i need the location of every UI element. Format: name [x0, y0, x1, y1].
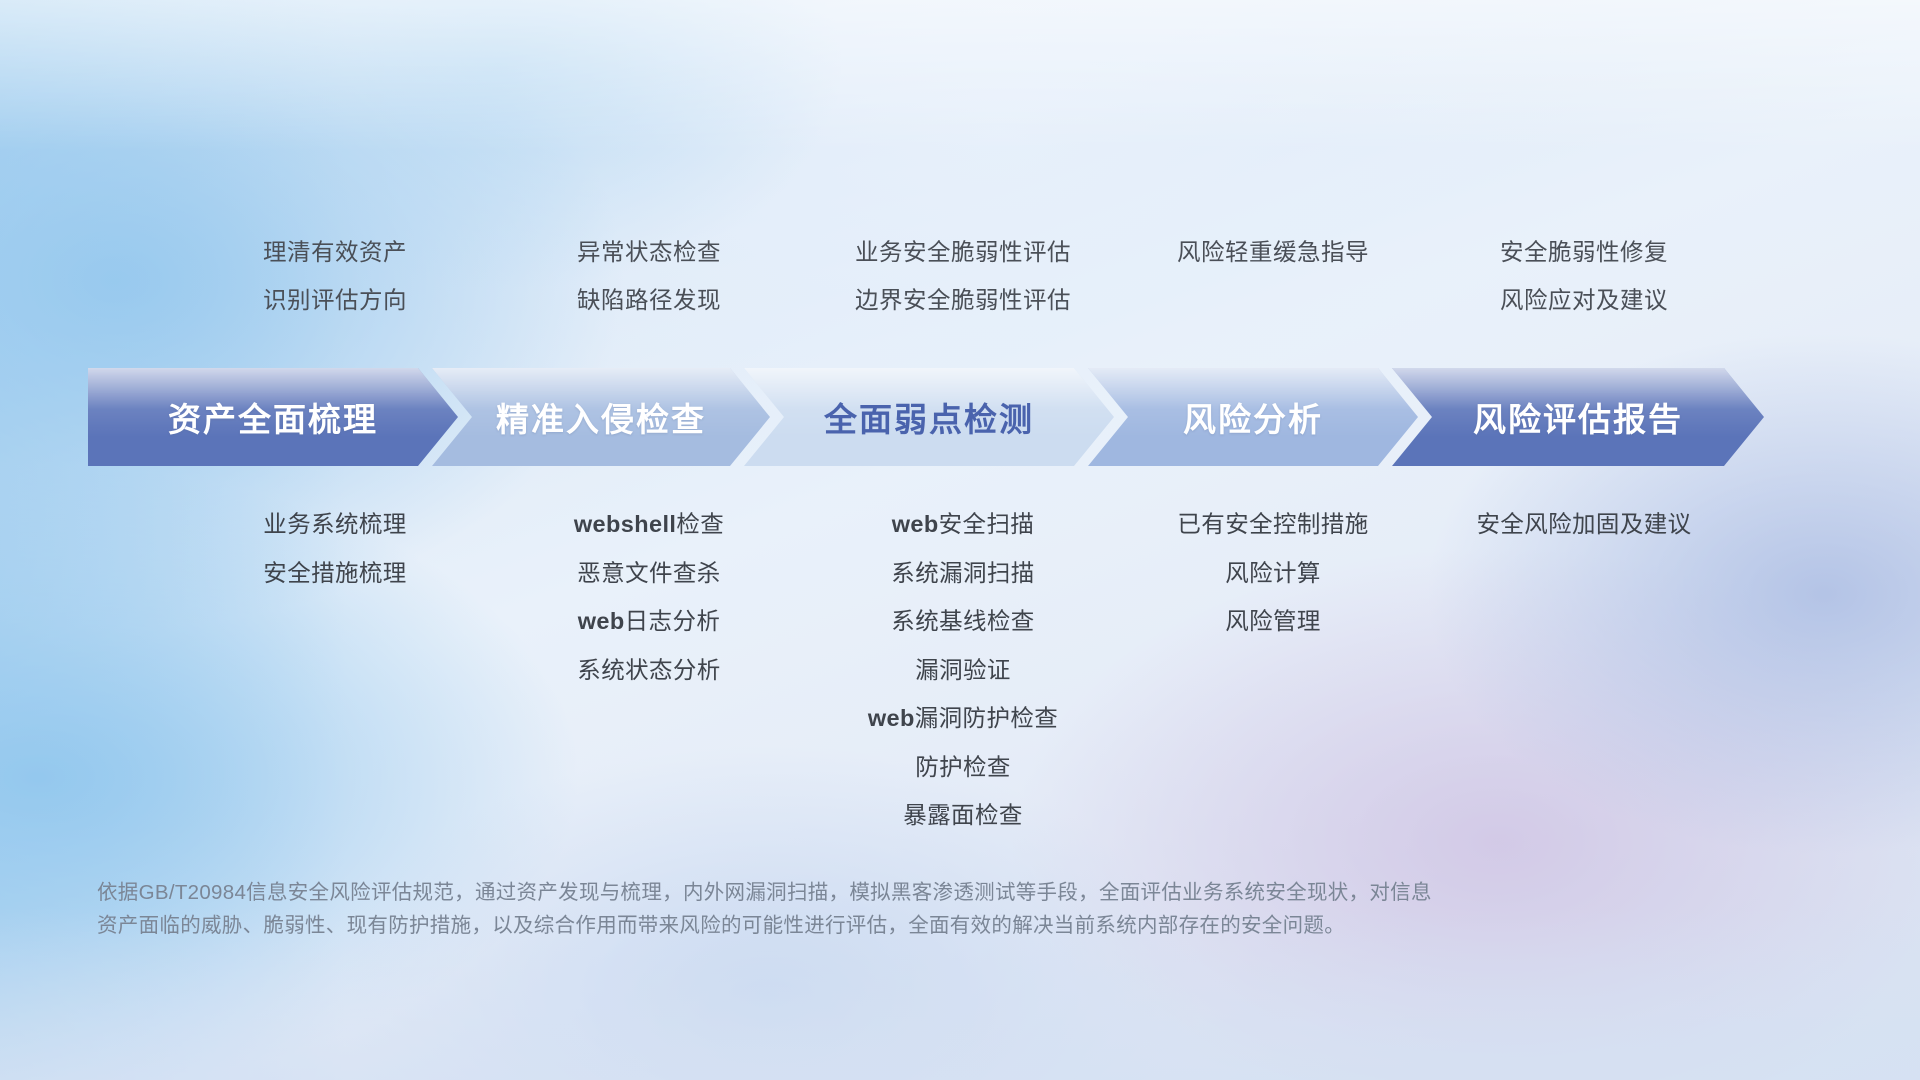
top-caption-column-risk-analysis: 风险轻重缓急指导	[1128, 228, 1418, 338]
detail-list-item: 系统漏洞扫描	[891, 549, 1034, 598]
top-caption-text: 风险轻重缓急指导	[1177, 228, 1369, 276]
top-caption-text: 业务安全脆弱性评估	[855, 228, 1071, 276]
top-caption-text: 缺陷路径发现	[577, 276, 721, 324]
detail-list-item: 风险计算	[1225, 549, 1321, 598]
detail-column-weakness-detection: web安全扫描系统漏洞扫描系统基线检查漏洞验证web漏洞防护检查防护检查暴露面检…	[798, 500, 1128, 840]
process-step-label: 资产全面梳理	[168, 393, 378, 441]
top-caption-text: 异常状态检查	[577, 228, 721, 276]
top-caption-text: 理清有效资产	[263, 228, 407, 276]
detail-list-item: 风险管理	[1225, 597, 1321, 646]
footer-line: 资产面临的威胁、脆弱性、现有防护措施，以及综合作用而带来风险的可能性进行评估，全…	[97, 909, 1717, 942]
top-caption-column-asset-inventory: 理清有效资产识别评估方向	[170, 228, 500, 338]
detail-list-item: 系统状态分析	[577, 646, 720, 695]
process-step-intrusion-check[interactable]: 精准入侵检查	[432, 368, 770, 466]
process-step-risk-analysis[interactable]: 风险分析	[1088, 368, 1418, 466]
process-step-label: 全面弱点检测	[824, 393, 1034, 441]
top-caption-column-intrusion-check: 异常状态检查缺陷路径发现	[500, 228, 798, 338]
detail-list-item: 系统基线检查	[891, 597, 1034, 646]
detail-column-risk-report: 安全风险加固及建议	[1418, 500, 1750, 549]
process-step-asset-inventory[interactable]: 资产全面梳理	[88, 368, 458, 466]
detail-list-item: 安全措施梳理	[263, 549, 406, 598]
detail-column-intrusion-check: webshell检查恶意文件查杀web日志分析系统状态分析	[500, 500, 798, 694]
top-caption-text: 边界安全脆弱性评估	[855, 276, 1071, 324]
detail-column-risk-analysis: 已有安全控制措施风险计算风险管理	[1128, 500, 1418, 646]
detail-list-row: 业务系统梳理安全措施梳理webshell检查恶意文件查杀web日志分析系统状态分…	[0, 500, 1920, 840]
process-chevron-band: 资产全面梳理精准入侵检查全面弱点检测风险分析风险评估报告	[88, 368, 1764, 466]
detail-list-item: web安全扫描	[892, 500, 1035, 549]
detail-list-item: webshell检查	[574, 500, 724, 549]
process-step-label: 风险评估报告	[1473, 393, 1683, 441]
detail-list-item: 漏洞验证	[915, 646, 1011, 695]
detail-list-item: web日志分析	[578, 597, 721, 646]
process-step-weakness-detection[interactable]: 全面弱点检测	[744, 368, 1114, 466]
footer-description: 依据GB/T20984信息安全风险评估规范，通过资产发现与梳理，内外网漏洞扫描，…	[97, 876, 1717, 942]
detail-list-item: 安全风险加固及建议	[1476, 500, 1691, 549]
top-caption-column-weakness-detection: 业务安全脆弱性评估边界安全脆弱性评估	[798, 228, 1128, 338]
detail-list-item: 防护检查	[915, 743, 1011, 792]
process-step-label: 精准入侵检查	[496, 393, 706, 441]
top-caption-row: 理清有效资产识别评估方向异常状态检查缺陷路径发现业务安全脆弱性评估边界安全脆弱性…	[0, 228, 1920, 338]
detail-list-item: 恶意文件查杀	[577, 549, 720, 598]
top-caption-column-risk-report: 安全脆弱性修复风险应对及建议	[1418, 228, 1750, 338]
detail-list-item: 已有安全控制措施	[1177, 500, 1368, 549]
detail-list-item: 业务系统梳理	[263, 500, 406, 549]
detail-list-item: 暴露面检查	[903, 791, 1023, 840]
process-step-risk-report[interactable]: 风险评估报告	[1392, 368, 1764, 466]
detail-column-asset-inventory: 业务系统梳理安全措施梳理	[170, 500, 500, 597]
top-caption-text: 安全脆弱性修复	[1500, 228, 1668, 276]
process-step-label: 风险分析	[1183, 393, 1323, 441]
footer-line: 依据GB/T20984信息安全风险评估规范，通过资产发现与梳理，内外网漏洞扫描，…	[97, 876, 1717, 909]
top-caption-text: 风险应对及建议	[1500, 276, 1668, 324]
detail-list-item: web漏洞防护检查	[868, 694, 1058, 743]
top-caption-text: 识别评估方向	[263, 276, 407, 324]
slide-canvas: 理清有效资产识别评估方向异常状态检查缺陷路径发现业务安全脆弱性评估边界安全脆弱性…	[0, 0, 1920, 1080]
